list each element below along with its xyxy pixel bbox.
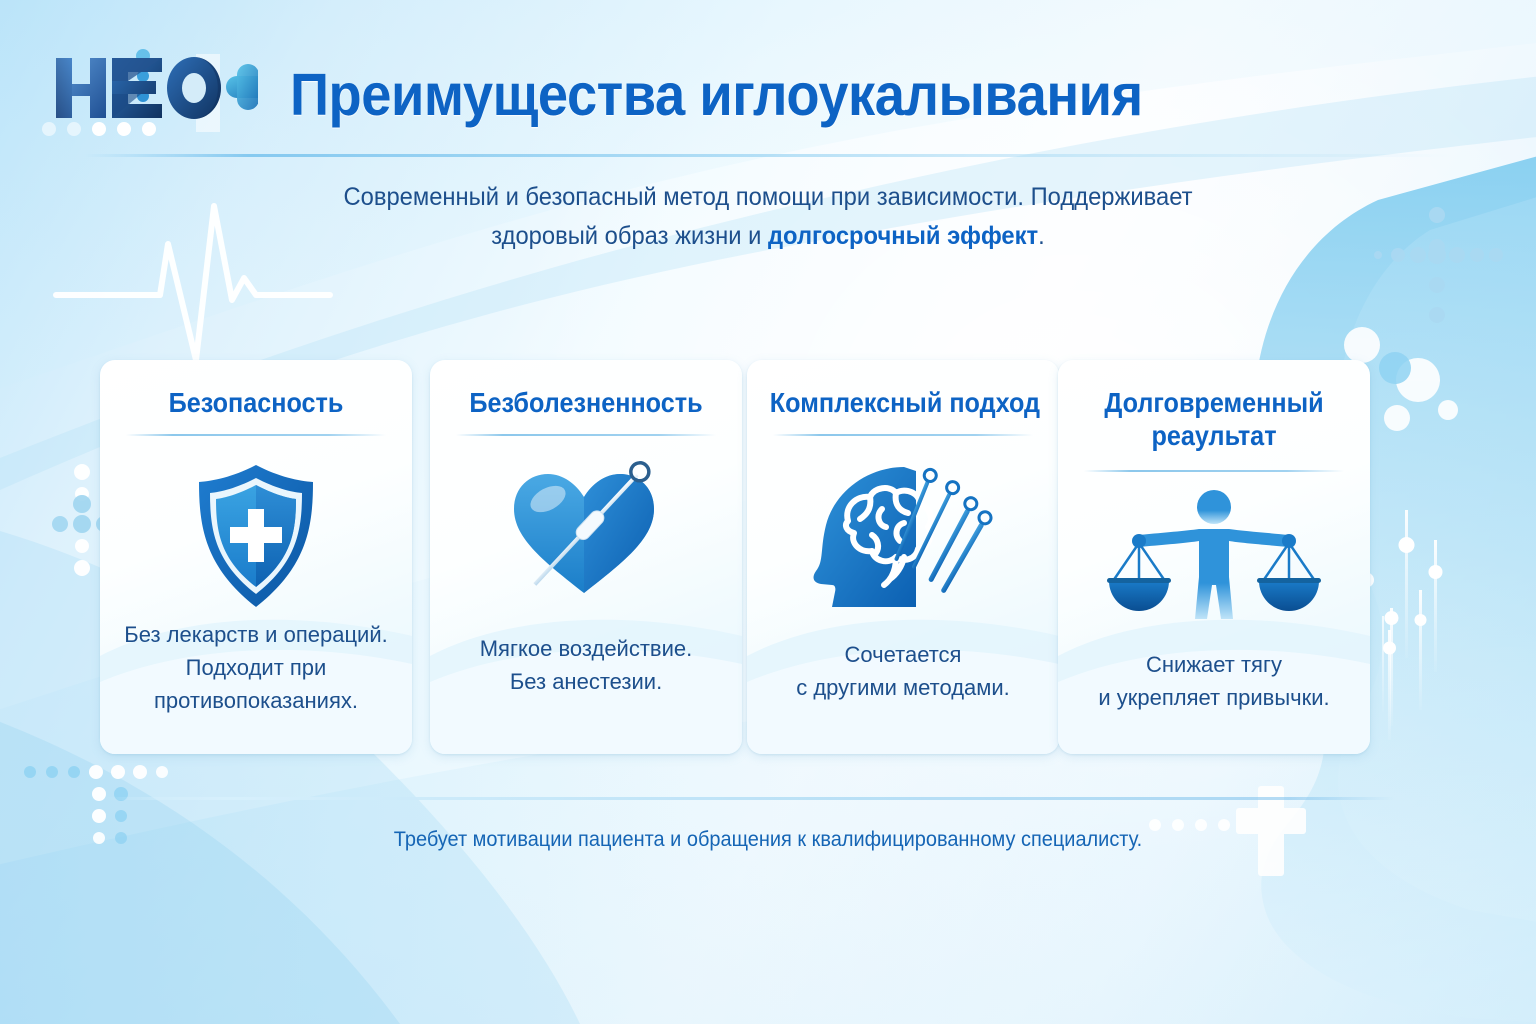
card-description: Мягкое воздействие. Без анестезии. [444,632,728,698]
benefit-card-long-term-result[interactable]: Долговременный реаультат [1058,360,1370,754]
benefit-card-painless[interactable]: Безболезненность [430,360,742,754]
subtitle-highlight: долгосрочный эффект [768,222,1038,250]
card-text-line: и укрепляет привычки. [1098,685,1329,710]
page-title: Преимущества иглоукалывания [290,56,1118,134]
balance-figure-icon [1058,470,1370,650]
card-description: Сочетается с другими методами. [761,638,1045,704]
header: Преимущества иглоукалывания [0,0,1536,150]
subtitle-line-2-suffix: . [1038,222,1045,250]
card-description: Без лекарств и операций. Подходит при пр… [114,618,398,717]
footer-note: Требует мотивации пациента и обращения к… [293,825,1243,855]
head-brain-needles-icon [747,446,1059,626]
ecg-pulse-line [56,206,330,360]
card-divider [126,434,386,436]
infographic-root: Преимущества иглоукалывания Современный … [0,0,1536,1024]
card-description: Снижает тягу и укрепляет привычки. [1072,648,1356,714]
card-text-line: Снижает тягу [1146,652,1282,677]
card-text-line: Без анестезии. [510,669,662,694]
card-text-line: Мягкое воздействие. [480,636,693,661]
header-divider [84,154,1452,157]
subtitle-line-1: Современный и безопасный метод помощи пр… [343,183,1192,211]
card-divider [456,434,716,436]
benefit-card-complex-approach[interactable]: Комплексный подход [747,360,1059,754]
shield-cross-icon [100,446,412,626]
benefit-card-list: Безопасность [100,360,1390,760]
subtitle: Современный и безопасный метод помощи пр… [293,178,1243,256]
footer-divider [104,797,1394,800]
benefit-card-safety[interactable]: Безопасность [100,360,412,754]
heart-needle-icon [430,446,742,626]
card-text-line: Без лекарств и операций. [124,622,387,647]
card-text-line: Сочетается [845,642,962,667]
card-title: Комплексный подход [770,386,1036,419]
subtitle-line-2-prefix: здоровый образ жизни и [491,222,768,250]
dotted-cross-icon [1374,207,1503,323]
dotted-row-decor [24,765,168,844]
card-title: Долговременный реаультат [1081,386,1347,452]
neo-plus-logo[interactable] [46,46,258,130]
card-title: Безопасность [123,386,389,419]
card-divider [773,434,1033,436]
card-text-line: Подходит при [186,655,327,680]
card-title: Безболезненность [453,386,719,419]
card-text-line: противопоказаниях. [154,688,358,713]
card-text-line: с другими методами. [796,675,1010,700]
